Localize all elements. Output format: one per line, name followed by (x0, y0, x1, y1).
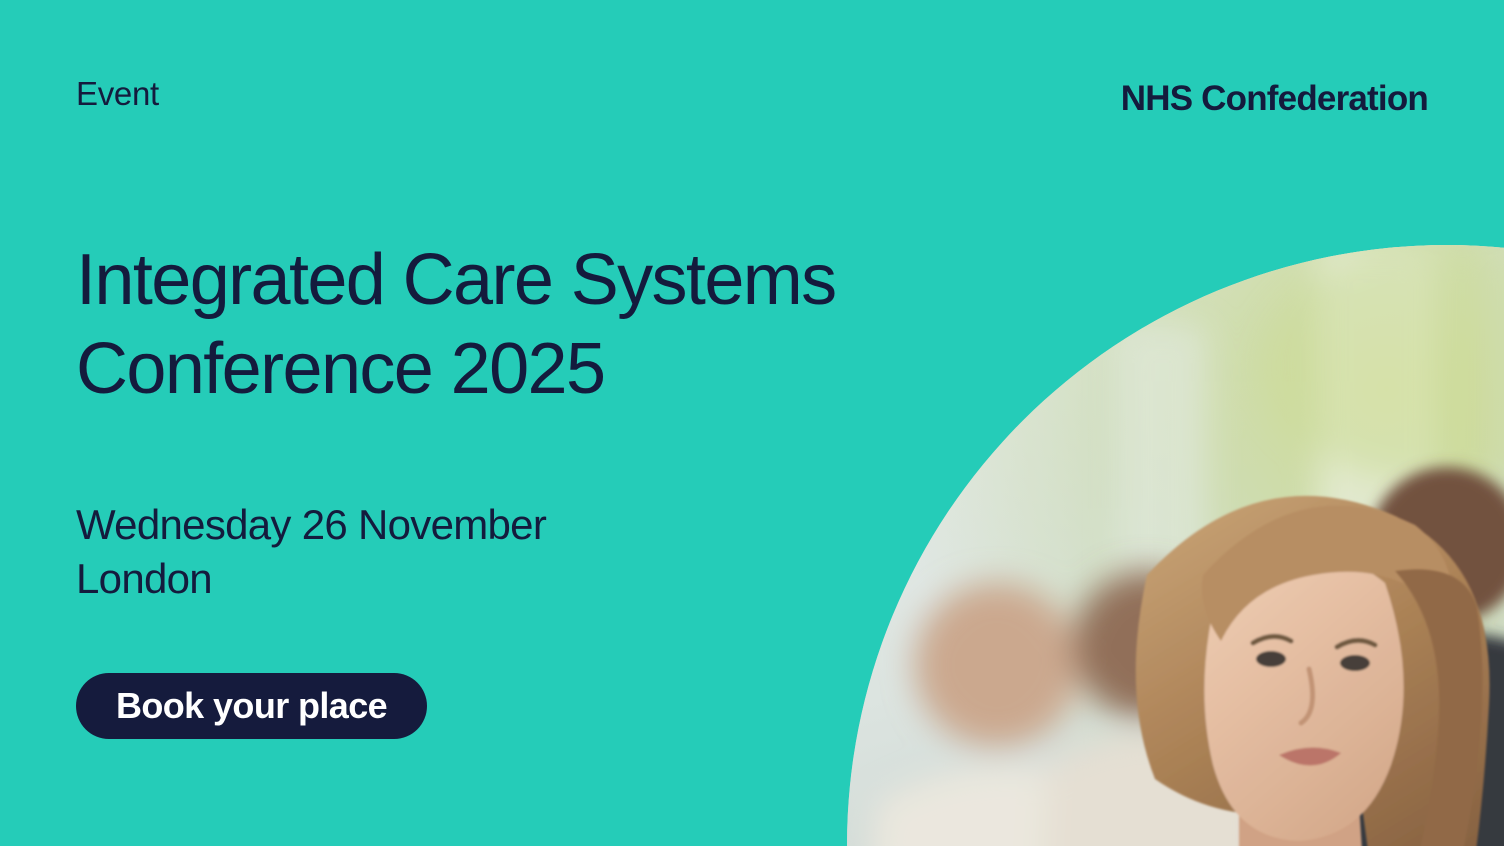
book-your-place-button[interactable]: Book your place (76, 673, 427, 739)
page-title: Integrated Care Systems Conference 2025 (76, 236, 976, 415)
headline-line-2: Conference 2025 (76, 325, 976, 414)
headline-line-1: Integrated Care Systems (76, 236, 976, 325)
event-promo-banner: Event NHS Confederation Integrated Care … (0, 0, 1504, 846)
event-date: Wednesday 26 November (76, 498, 546, 552)
event-details: Wednesday 26 November London (76, 498, 546, 606)
nhs-confederation-logo-mark-icon (1043, 68, 1105, 130)
event-location: London (76, 552, 546, 606)
nhs-confederation-logo-text: NHS Confederation (1121, 79, 1428, 119)
eyebrow-label: Event (76, 76, 159, 112)
nhs-confederation-logo[interactable]: NHS Confederation (1043, 68, 1428, 130)
